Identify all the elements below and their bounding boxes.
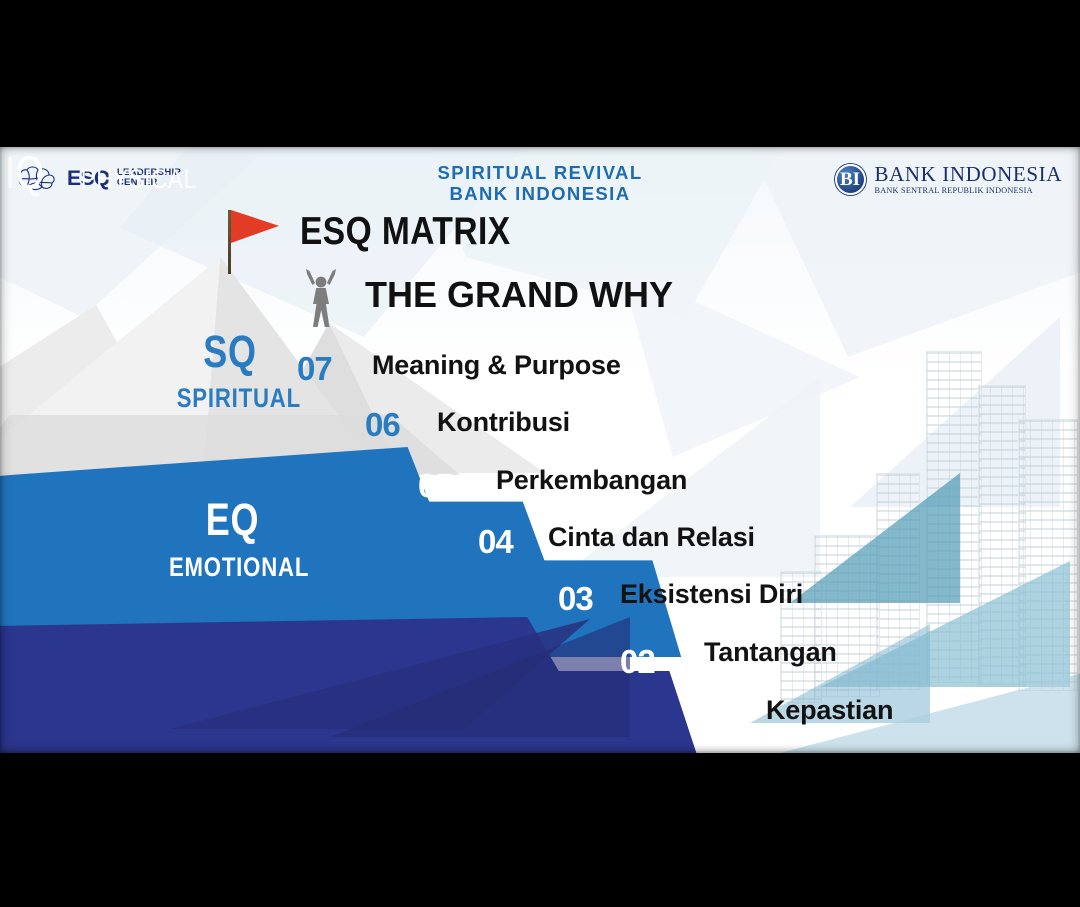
- step-label-04: Cinta dan Relasi: [548, 522, 755, 553]
- bank-indonesia-name: BANK INDONESIA: [875, 164, 1062, 185]
- step-number-07: 07: [297, 352, 332, 385]
- step-label-02: Tantangan: [704, 637, 837, 668]
- step-label-06: Kontribusi: [437, 407, 570, 438]
- step-number-05: 05: [418, 469, 453, 502]
- step-label-03: Eksistensi Diri: [620, 579, 803, 610]
- step-number-03: 03: [558, 582, 593, 615]
- tier-label-eq: EQ EMOTIONAL: [155, 497, 310, 581]
- tier-name-sq: SPIRITUAL: [177, 385, 284, 412]
- bank-indonesia-monogram-icon: BI: [835, 164, 866, 195]
- climber-silhouette-icon: [300, 267, 342, 329]
- bank-indonesia-tagline: BANK SENTRAL REPUBLIK INDONESIA: [875, 187, 1062, 195]
- flag-pole-icon: [228, 210, 231, 274]
- step-label-07: Meaning & Purpose: [372, 350, 621, 381]
- page-title: ESQ MATRIX: [300, 210, 511, 254]
- tier-code-eq: EQ: [171, 497, 295, 542]
- screenshot-stage: ESQ LEADERSHIP CENTER SPIRITUAL REVIVAL …: [0, 0, 1080, 907]
- step-number-04: 04: [478, 525, 513, 558]
- step-number-06: 06: [365, 408, 400, 441]
- presentation-slide: ESQ LEADERSHIP CENTER SPIRITUAL REVIVAL …: [0, 147, 1080, 753]
- step-label-01: Kepastian: [766, 695, 893, 726]
- tier-code-iq: IQ: [5, 147, 45, 199]
- step-number-01: 01: [692, 699, 727, 732]
- city-skyline-background: [780, 323, 1080, 753]
- bank-indonesia-logo: BI BANK INDONESIA BANK SENTRAL REPUBLIK …: [835, 164, 1062, 195]
- bank-indonesia-text: BANK INDONESIA BANK SENTRAL REPUBLIK IND…: [875, 164, 1062, 195]
- step-label-05: Perkembangan: [496, 465, 687, 496]
- tier-name-iq: PHYSICAL: [80, 164, 196, 195]
- tier-label-sq: SQ SPIRITUAL: [165, 329, 295, 412]
- page-subtitle: THE GRAND WHY: [365, 274, 673, 316]
- tier-code-sq: SQ: [178, 329, 282, 374]
- step-number-02: 02: [620, 645, 655, 678]
- tier-name-eq: EMOTIONAL: [169, 554, 296, 581]
